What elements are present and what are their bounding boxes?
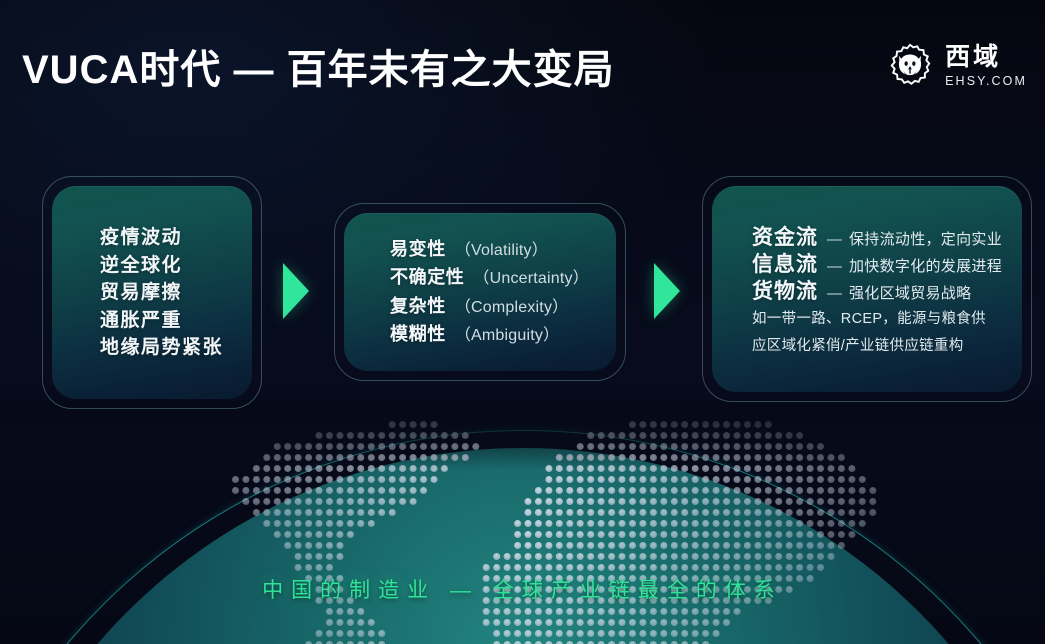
list-item: 逆全球化 [100,256,252,275]
list-item: 易变性 （Volatility） [390,240,616,259]
vuca-term-en: （Ambiguity） [455,328,559,344]
vuca-term-cn: 模糊性 [390,325,446,343]
flow-dash: — [827,232,842,247]
list-item: 模糊性 （Ambiguity） [390,325,616,344]
vuca-term-en: （Volatility） [455,243,548,259]
list-item: 通胀严重 [100,311,252,330]
vuca-list: 易变性 （Volatility） 不确定性 （Uncertainty） 复杂性 … [344,230,616,354]
globe-orbit-arc [0,430,1045,644]
vuca-term-en: （Complexity） [455,300,569,316]
flows-note-line-1: 如一带一路、RCEP，能源与粮食供 [752,308,1022,330]
vuca-term-cn: 复杂性 [390,297,446,315]
flow-desc: 加快数字化的发展进程 [849,259,1002,274]
card-vuca-body: 易变性 （Volatility） 不确定性 （Uncertainty） 复杂性 … [344,213,616,371]
list-item: 货物流 — 强化区域贸易战略 [752,281,1022,302]
triangle-right-icon [654,263,680,319]
card-causes-body: 疫情波动 逆全球化 贸易摩擦 通胀严重 地缘局势紧张 [52,186,252,399]
list-item: 贸易摩擦 [100,283,252,302]
flow-dash: — [827,259,842,274]
brand-logo: 西域 EHSY.COM [886,42,1027,90]
flows-note-line-2: 应区域化紧俏/产业链供应链重构 [752,335,1022,357]
globe-top-fade [0,400,1045,470]
page-title: VUCA时代 — 百年未有之大变局 [22,37,615,95]
logo-name-en: EHSY.COM [945,75,1027,88]
causes-list: 疫情波动 逆全球化 贸易摩擦 通胀严重 地缘局势紧张 [52,220,252,366]
flow-dash: — [827,286,842,301]
card-vuca[interactable]: 易变性 （Volatility） 不确定性 （Uncertainty） 复杂性 … [334,203,626,381]
triangle-right-icon [283,263,309,319]
list-item: 信息流 — 加快数字化的发展进程 [752,254,1022,275]
vuca-term-cn: 不确定性 [390,268,464,286]
card-flows-body: 资金流 — 保持流动性，定向实业 信息流 — 加快数字化的发展进程 货物流 — … [712,186,1022,392]
flow-term: 资金流 [752,227,818,248]
flow-desc: 强化区域贸易战略 [849,286,971,301]
flows-list: 资金流 — 保持流动性，定向实业 信息流 — 加快数字化的发展进程 货物流 — … [712,221,1022,357]
list-item: 疫情波动 [100,228,252,247]
cards-row: 疫情波动 逆全球化 贸易摩擦 通胀严重 地缘局势紧张 易变性 （Volatili… [0,0,1045,644]
globe-background [0,400,1045,644]
slide-caption: 中国的制造业 — 全球产业链最全的体系 [0,574,1045,604]
list-item: 复杂性 （Complexity） [390,297,616,316]
dotted-world-map [178,408,878,644]
vuca-term-en: （Uncertainty） [473,271,589,287]
lion-head-in-gear-icon [886,42,934,90]
flow-term: 货物流 [752,281,818,302]
globe-sphere [0,448,1045,644]
flow-desc: 保持流动性，定向实业 [849,232,1002,247]
card-causes[interactable]: 疫情波动 逆全球化 贸易摩擦 通胀严重 地缘局势紧张 [42,176,262,409]
flow-term: 信息流 [752,254,818,275]
list-item: 地缘局势紧张 [100,338,252,357]
list-item: 资金流 — 保持流动性，定向实业 [752,227,1022,248]
vuca-term-cn: 易变性 [390,240,446,258]
card-flows[interactable]: 资金流 — 保持流动性，定向实业 信息流 — 加快数字化的发展进程 货物流 — … [702,176,1032,402]
slide-canvas: VUCA时代 — 百年未有之大变局 西域 EHSY.COM [0,0,1045,644]
logo-text-block: 西域 EHSY.COM [945,45,1027,88]
list-item: 不确定性 （Uncertainty） [390,268,616,287]
logo-name-cn: 西域 [945,45,1001,70]
